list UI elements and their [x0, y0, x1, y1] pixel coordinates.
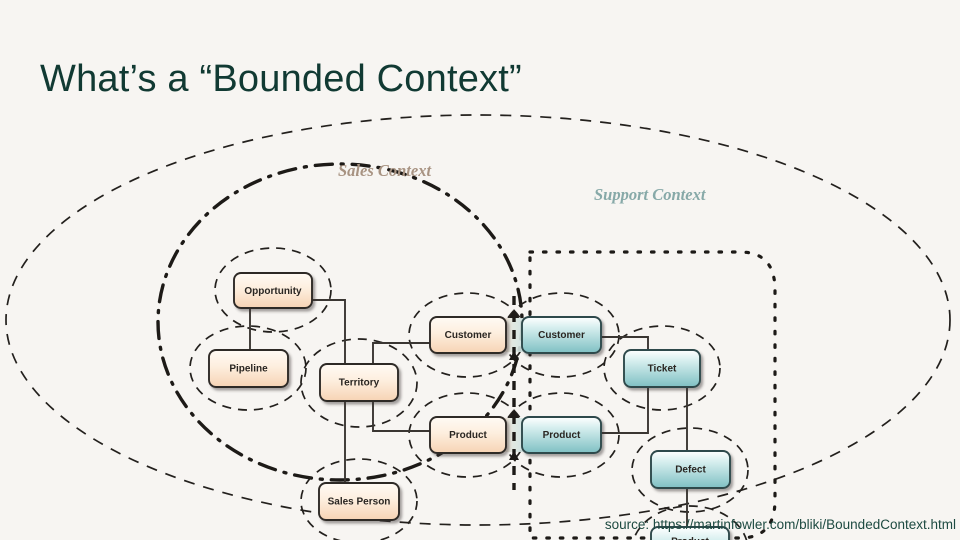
diagram-svg: Opportunity Pipeline Territory Sales Per… [0, 100, 960, 540]
entity-product-sales[interactable]: Product [430, 417, 506, 453]
entity-ticket[interactable]: Ticket [624, 350, 700, 387]
entity-label-product-version-line1: Product [671, 537, 709, 540]
entity-label-customer-support: Customer [538, 330, 585, 341]
relation-opportunity-territory [312, 300, 345, 364]
entity-label-product-support: Product [543, 430, 581, 441]
entity-label-opportunity: Opportunity [244, 286, 302, 297]
entity-label-sales-person: Sales Person [328, 497, 391, 508]
entity-label-territory: Territory [339, 378, 380, 389]
support-context-label: Support Context [594, 185, 706, 204]
entity-opportunity[interactable]: Opportunity [234, 273, 312, 308]
relation-territory-product [373, 401, 430, 431]
entity-label-product-sales: Product [449, 430, 487, 441]
source-attribution: source: https://martinfowler.com/bliki/B… [605, 517, 956, 532]
entity-label-ticket: Ticket [648, 364, 677, 375]
relation-customer-ticket [601, 337, 648, 350]
entity-pipeline[interactable]: Pipeline [209, 350, 288, 387]
entity-label-customer-sales: Customer [445, 330, 492, 341]
sales-context-label: Sales Context [338, 161, 431, 180]
entity-customer-support[interactable]: Customer [522, 317, 601, 353]
slide-canvas: What’s a “Bounded Context” [0, 0, 960, 540]
entity-label-pipeline: Pipeline [229, 364, 268, 375]
support-context-boundary [530, 252, 775, 538]
entity-product-support[interactable]: Product [522, 417, 601, 453]
shared-kernel-divider [505, 296, 523, 490]
entity-defect[interactable]: Defect [651, 451, 730, 488]
entity-label-defect: Defect [675, 465, 706, 476]
entity-customer-sales[interactable]: Customer [430, 317, 506, 353]
bounded-context-diagram: Opportunity Pipeline Territory Sales Per… [0, 100, 960, 540]
page-title: What’s a “Bounded Context” [40, 58, 522, 101]
entity-sales-person[interactable]: Sales Person [319, 483, 399, 520]
relation-product-ticket [601, 387, 648, 433]
entity-territory[interactable]: Territory [320, 364, 398, 401]
entity-boxes: Opportunity Pipeline Territory Sales Per… [209, 273, 730, 540]
